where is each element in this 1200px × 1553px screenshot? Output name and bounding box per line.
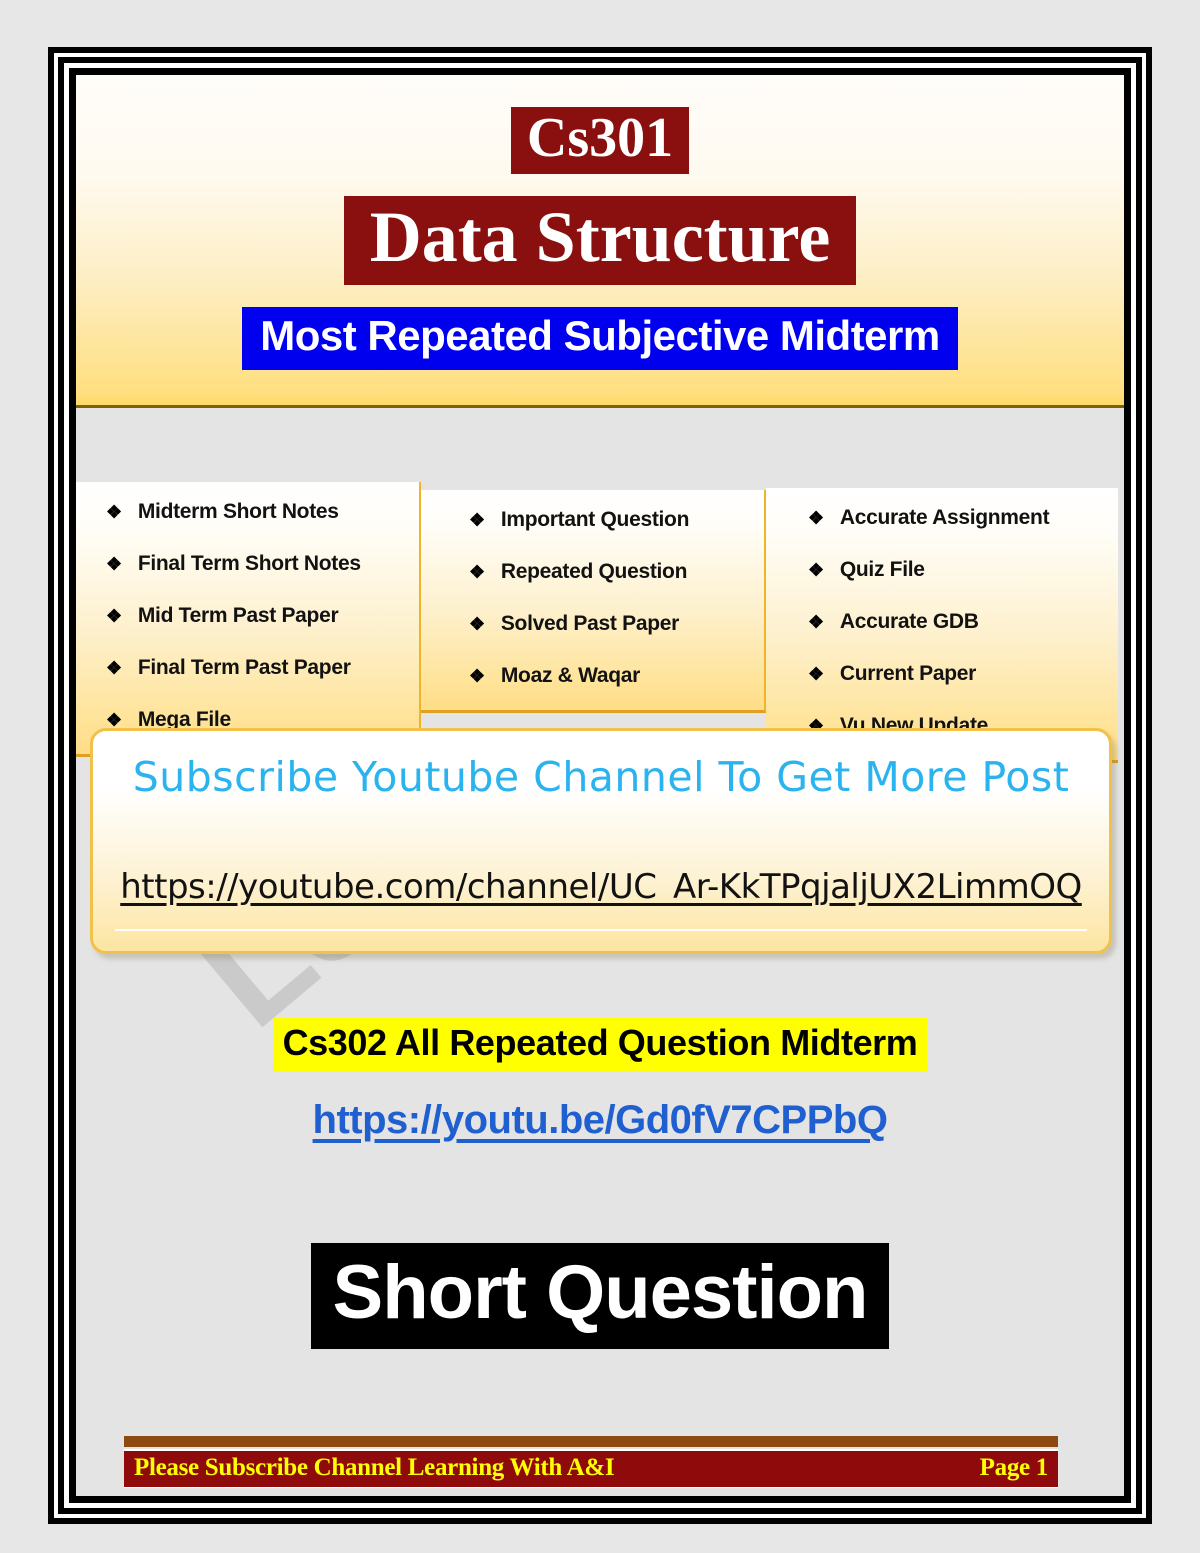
feature-column-1: ❖ Midterm Short Notes ❖ Final Term Short… [76,482,421,757]
list-item: ❖ Current Paper [808,662,1118,686]
feature-columns: ❖ Midterm Short Notes ❖ Final Term Short… [76,482,1124,763]
list-item: ❖ Accurate GDB [808,610,1118,634]
document-header: Cs301 Data Structure Most Repeated Subje… [76,75,1124,408]
subscribe-heading: Subscribe Youtube Channel To Get More Po… [93,745,1109,805]
list-item: ❖ Moaz & Waqar [469,664,764,688]
list-item-label: Quiz File [840,558,925,582]
diamond-bullet-icon: ❖ [469,667,485,685]
diamond-bullet-icon: ❖ [808,509,824,527]
list-item-label: Accurate Assignment [840,506,1049,530]
diamond-bullet-icon: ❖ [106,555,122,573]
callout-divider [115,929,1087,931]
list-item: ❖ Mid Term Past Paper [106,604,419,628]
page-footer: Please Subscribe Channel Learning With A… [124,1436,1058,1488]
subscribe-callout: Subscribe Youtube Channel To Get More Po… [90,728,1112,954]
course-title-banner: Data Structure [344,196,857,286]
list-item-label: Accurate GDB [840,610,979,634]
list-item-label: Repeated Question [501,560,687,584]
list-item-label: Moaz & Waqar [501,664,640,688]
diamond-bullet-icon: ❖ [808,561,824,579]
document-subtitle-banner: Most Repeated Subjective Midterm [242,307,957,369]
promo-title-highlight: Cs302 All Repeated Question Midterm [273,1018,928,1071]
course-code-banner: Cs301 [511,107,689,174]
list-item: ❖ Accurate Assignment [808,506,1118,530]
diamond-bullet-icon: ❖ [469,563,485,581]
diamond-bullet-icon: ❖ [106,503,122,521]
document-body: Lear ❖ Midterm Short Notes ❖ Final Term … [76,408,1124,1503]
list-item-label: Mid Term Past Paper [138,604,338,628]
list-item: ❖ Solved Past Paper [469,612,764,636]
promo-link-row: https://youtu.be/Gd0fV7CPPbQ [76,1098,1124,1143]
footer-page-number: Page 1 [980,1454,1048,1482]
footer-bar: Please Subscribe Channel Learning With A… [124,1449,1058,1488]
diamond-bullet-icon: ❖ [106,659,122,677]
list-item-label: Midterm Short Notes [138,500,339,524]
list-item-label: Important Question [501,508,689,532]
diamond-bullet-icon: ❖ [106,607,122,625]
list-item-label: Final Term Short Notes [138,552,361,576]
diamond-bullet-icon: ❖ [469,511,485,529]
section-banner-row: Short Question [76,1243,1124,1349]
section-banner-label: Short Question [311,1243,890,1349]
list-item: ❖ Repeated Question [469,560,764,584]
diamond-bullet-icon: ❖ [808,665,824,683]
list-item-label: Final Term Past Paper [138,656,351,680]
list-item-label: Current Paper [840,662,976,686]
feature-column-2: ❖ Important Question ❖ Repeated Question… [421,490,766,713]
list-item-label: Solved Past Paper [501,612,679,636]
footer-rule [124,1436,1058,1447]
diamond-bullet-icon: ❖ [808,613,824,631]
list-item: ❖ Quiz File [808,558,1118,582]
page-frame-outer: Cs301 Data Structure Most Repeated Subje… [48,47,1152,1524]
promo-video-link[interactable]: https://youtu.be/Gd0fV7CPPbQ [313,1098,888,1143]
footer-left-text: Please Subscribe Channel Learning With A… [134,1454,614,1482]
list-item: ❖ Final Term Short Notes [106,552,419,576]
feature-column-3: ❖ Accurate Assignment ❖ Quiz File ❖ Accu… [766,488,1118,763]
list-item: ❖ Important Question [469,508,764,532]
list-item: ❖ Final Term Past Paper [106,656,419,680]
diamond-bullet-icon: ❖ [106,711,122,729]
diamond-bullet-icon: ❖ [469,615,485,633]
page-frame-inner: Cs301 Data Structure Most Repeated Subje… [69,68,1131,1503]
youtube-channel-link[interactable]: https://youtube.com/channel/UC_Ar-KkTPqj… [93,867,1109,907]
list-item: ❖ Midterm Short Notes [106,500,419,524]
promo-title-row: Cs302 All Repeated Question Midterm [76,1018,1124,1071]
page-frame-middle: Cs301 Data Structure Most Repeated Subje… [58,57,1142,1514]
